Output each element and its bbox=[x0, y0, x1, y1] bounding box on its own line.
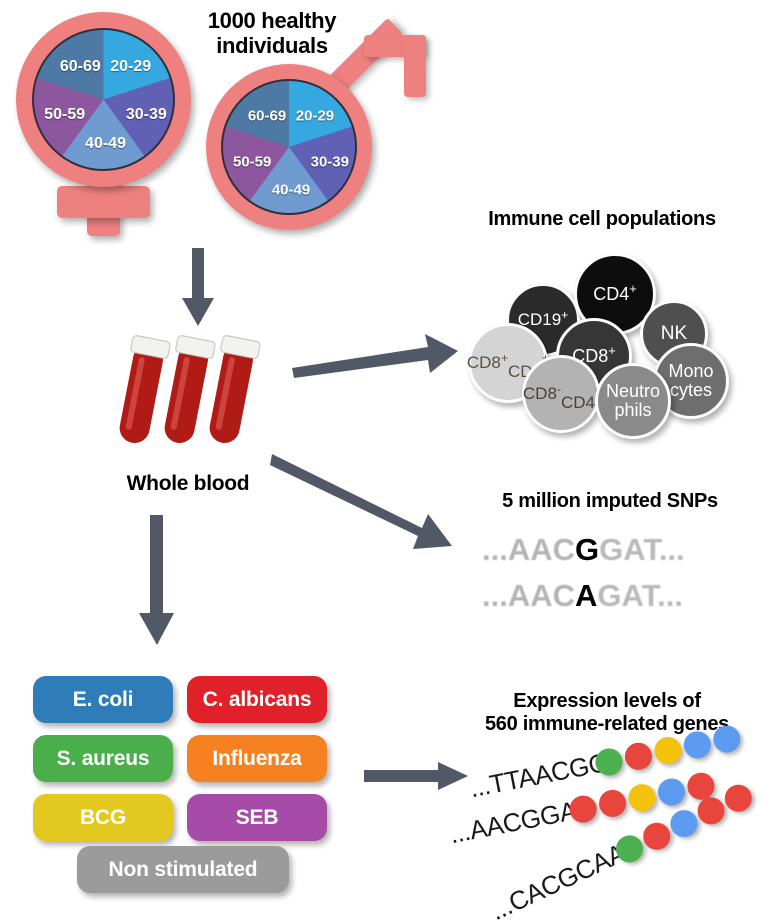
pie-slice-label-30-39: 30-39 bbox=[126, 106, 167, 124]
pie-slice-label-60-69: 60-69 bbox=[248, 107, 286, 124]
arrow-blood-to-stimuli bbox=[133, 515, 181, 645]
gene-expression-bead bbox=[711, 723, 743, 755]
snp-variant-base: A bbox=[575, 578, 597, 614]
arrow-blood-to-snps bbox=[270, 450, 455, 555]
stimuli-box-grid: E. coliC. albicansS. aureusInfluenzaBCGS… bbox=[33, 676, 333, 796]
pie-slice-label-40-49: 40-49 bbox=[85, 135, 126, 153]
pie-slice-label-20-29: 20-29 bbox=[110, 58, 151, 76]
stimulus-c-albicans[interactable]: C. albicans bbox=[187, 676, 327, 723]
pie-slice-label-40-49: 40-49 bbox=[272, 181, 310, 198]
stimulus-bcg[interactable]: BCG bbox=[33, 794, 173, 841]
snp-prefix: ...AAC bbox=[482, 532, 575, 568]
snp-allele-row-2: ...AACAGAT... bbox=[482, 578, 683, 614]
gene-expression-bead bbox=[656, 776, 688, 808]
pie-slice-label-50-59: 50-59 bbox=[233, 153, 271, 170]
arrow-blood-to-immune-cells bbox=[290, 330, 460, 380]
pie-slice-label-50-59: 50-59 bbox=[44, 106, 85, 124]
female-age-pie-chart: 20-2930-3940-4950-5960-69 bbox=[32, 28, 175, 171]
gene-expression-strands: ...TTAACGG...AACGGAT...CACGCAA bbox=[450, 750, 771, 915]
snp-sequence-block: ...AACGGAT......AACAGAT... bbox=[482, 532, 742, 614]
immune-cells-title: Immune cell populations bbox=[452, 208, 752, 231]
gene-expression-bead bbox=[720, 780, 756, 816]
male-age-pie-chart: 20-2930-3940-4950-5960-69 bbox=[221, 79, 357, 215]
immune-cell-cd8-cd4-double-negative[interactable]: CD8-CD4- bbox=[522, 355, 600, 433]
snp-variant-base: G bbox=[575, 532, 599, 568]
gene-expression-bead bbox=[681, 728, 713, 760]
male-symbol-arrowhead-side bbox=[404, 35, 426, 97]
whole-blood-tubes bbox=[108, 335, 268, 455]
gene-expression-bead bbox=[623, 740, 655, 772]
gene-expression-bead bbox=[597, 787, 629, 819]
snps-title: 5 million imputed SNPs bbox=[460, 490, 760, 513]
stimulus-influenza[interactable]: Influenza bbox=[187, 735, 327, 782]
whole-blood-label: Whole blood bbox=[88, 472, 288, 496]
stimulus-e-coli[interactable]: E. coli bbox=[33, 676, 173, 723]
stimulus-non-stimulated[interactable]: Non stimulated bbox=[77, 846, 289, 893]
snp-suffix: GAT... bbox=[597, 578, 683, 614]
gene-expression-bead bbox=[652, 734, 684, 766]
stimulus-s-aureus[interactable]: S. aureus bbox=[33, 735, 173, 782]
pie-slice-label-20-29: 20-29 bbox=[296, 107, 334, 124]
immune-cell-neutrophils[interactable]: Neutrophils bbox=[595, 363, 671, 439]
snp-suffix: GAT... bbox=[599, 532, 685, 568]
figure-canvas: 1000 healthy individuals 20-2930-3940-49… bbox=[0, 0, 771, 922]
stimulus-seb[interactable]: SEB bbox=[187, 794, 327, 841]
male-gender-symbol: 20-2930-3940-4950-5960-69 bbox=[198, 32, 428, 247]
gene-strand-sequence: ...CACGCAA bbox=[485, 837, 630, 922]
snp-allele-row-1: ...AACGGAT... bbox=[482, 532, 685, 568]
gene-expression-bead bbox=[626, 781, 658, 813]
female-symbol-horizontal-bar bbox=[57, 186, 150, 218]
immune-cell-population-cluster: CD19+CD4+NKCD8+CD4+CD8+MonocytesCD8-CD4-… bbox=[468, 245, 748, 445]
pie-slice-label-60-69: 60-69 bbox=[60, 58, 101, 76]
pie-slice-label-30-39: 30-39 bbox=[311, 153, 349, 170]
snp-prefix: ...AAC bbox=[482, 578, 575, 614]
arrow-cohort-to-blood bbox=[178, 248, 218, 326]
female-gender-symbol: 20-2930-3940-4950-5960-69 bbox=[8, 8, 198, 238]
